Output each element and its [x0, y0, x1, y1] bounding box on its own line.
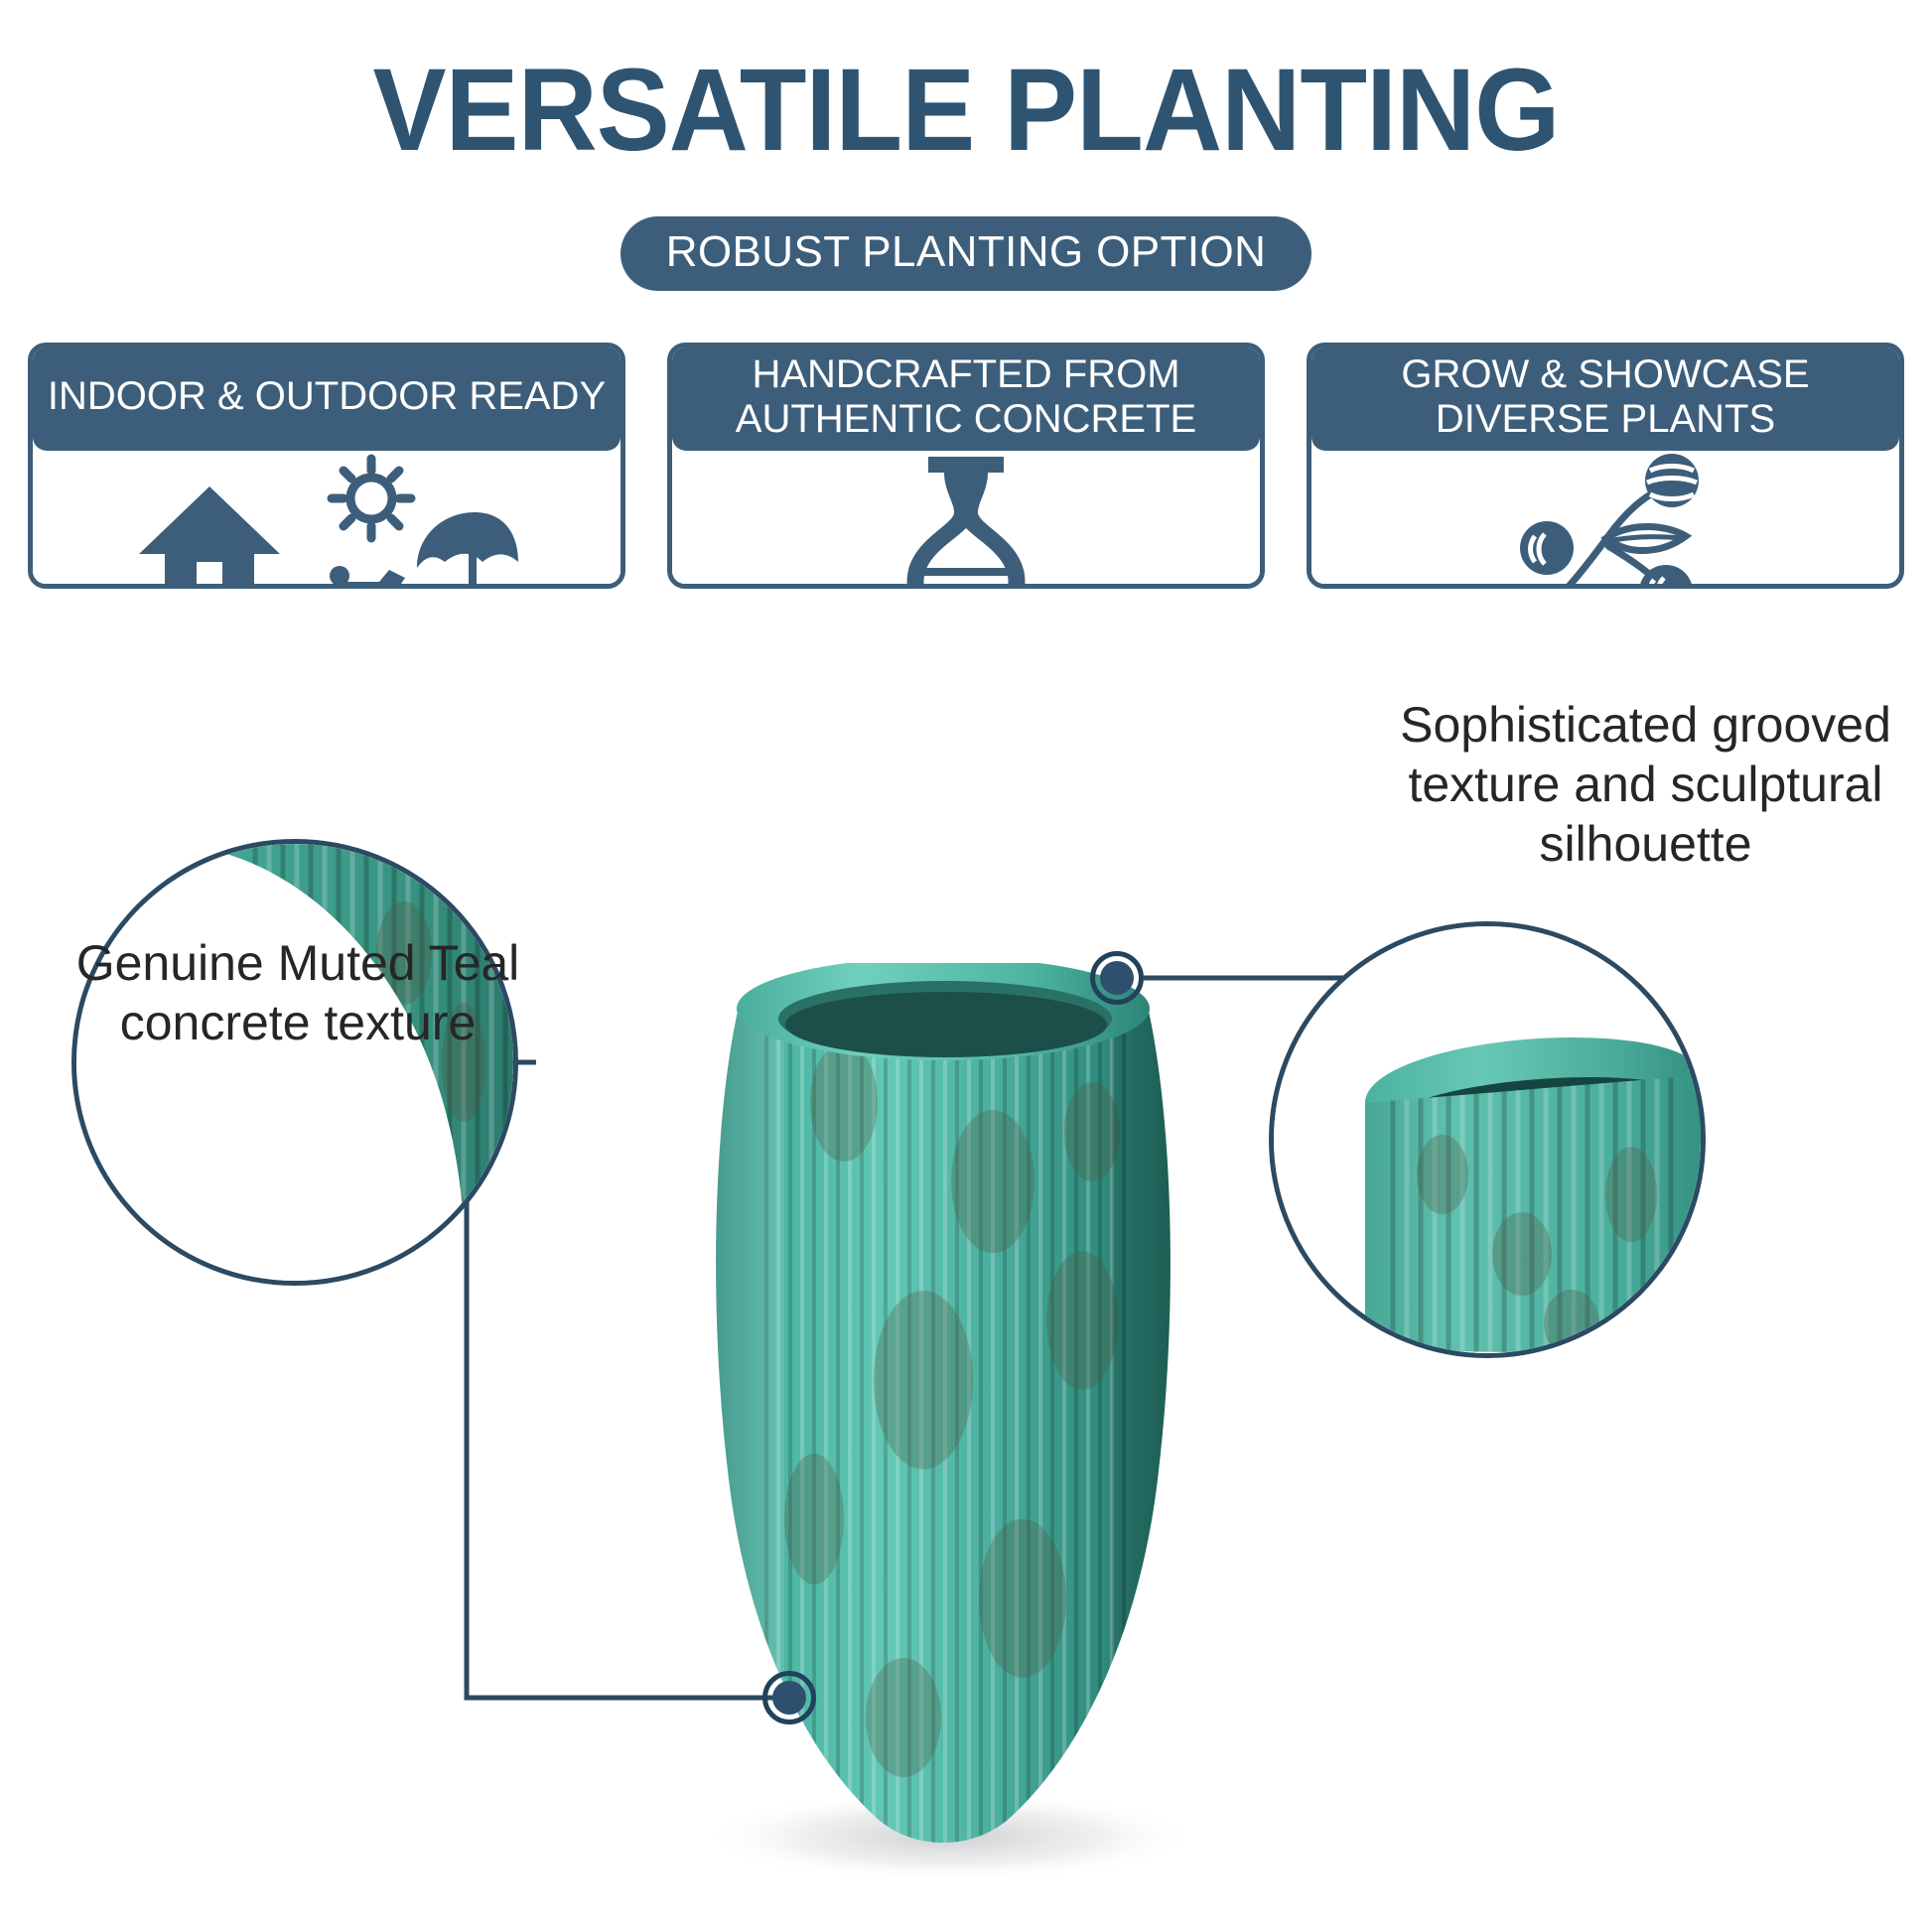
feature-card-icons	[33, 451, 621, 589]
callout-marker-dot	[1100, 961, 1134, 995]
vase-icon	[867, 451, 1065, 589]
feature-card-heading: HANDCRAFTED FROM AUTHENTIC CONCRETE	[672, 347, 1260, 451]
detail-zoom-left	[71, 839, 518, 1286]
sun-icon	[310, 451, 518, 589]
feature-card-row: INDOOR & OUTDOOR READY	[28, 343, 1904, 589]
callout-marker-bottom[interactable]	[762, 1671, 816, 1725]
feature-card-icons	[672, 451, 1260, 589]
page-title: VERSATILE PLANTING	[58, 52, 1873, 169]
subtitle-badge: ROBUST PLANTING OPTION	[621, 216, 1312, 291]
detail-zoom-right-image	[1274, 926, 1701, 1353]
feature-card-indoor-outdoor: INDOOR & OUTDOOR READY	[28, 343, 625, 589]
berry-branch-icon	[1491, 451, 1720, 589]
callout-marker-dot	[772, 1681, 806, 1715]
house-icon	[135, 471, 284, 589]
feature-card-heading: INDOOR & OUTDOOR READY	[33, 347, 621, 451]
detail-zoom-left-image	[76, 844, 513, 1281]
detail-zoom-right	[1269, 921, 1706, 1358]
product-stage: Genuine Muted Teal concrete texture Soph…	[0, 635, 1932, 1932]
callout-label-right: Sophisticated grooved texture and sculpt…	[1375, 695, 1916, 874]
feature-card-handcrafted: HANDCRAFTED FROM AUTHENTIC CONCRETE	[667, 343, 1265, 589]
berry-left	[1520, 521, 1574, 575]
callout-label-left: Genuine Muted Teal concrete texture	[40, 933, 556, 1052]
flute-lines	[695, 963, 1191, 1896]
infographic-page: VERSATILE PLANTING ROBUST PLANTING OPTIO…	[0, 0, 1932, 1932]
planter-product-image	[695, 963, 1191, 1896]
feature-card-icons	[1311, 451, 1899, 589]
planter-body	[695, 963, 1191, 1896]
feature-card-grow-showcase: GROW & SHOWCASE DIVERSE PLANTS	[1307, 343, 1904, 589]
badge-row: ROBUST PLANTING OPTION	[0, 216, 1932, 291]
callout-marker-top[interactable]	[1090, 951, 1144, 1005]
berry-striped	[1645, 454, 1699, 507]
beach-umbrella-icon	[328, 512, 518, 589]
feature-card-heading: GROW & SHOWCASE DIVERSE PLANTS	[1311, 347, 1899, 451]
leaf	[1606, 527, 1686, 551]
